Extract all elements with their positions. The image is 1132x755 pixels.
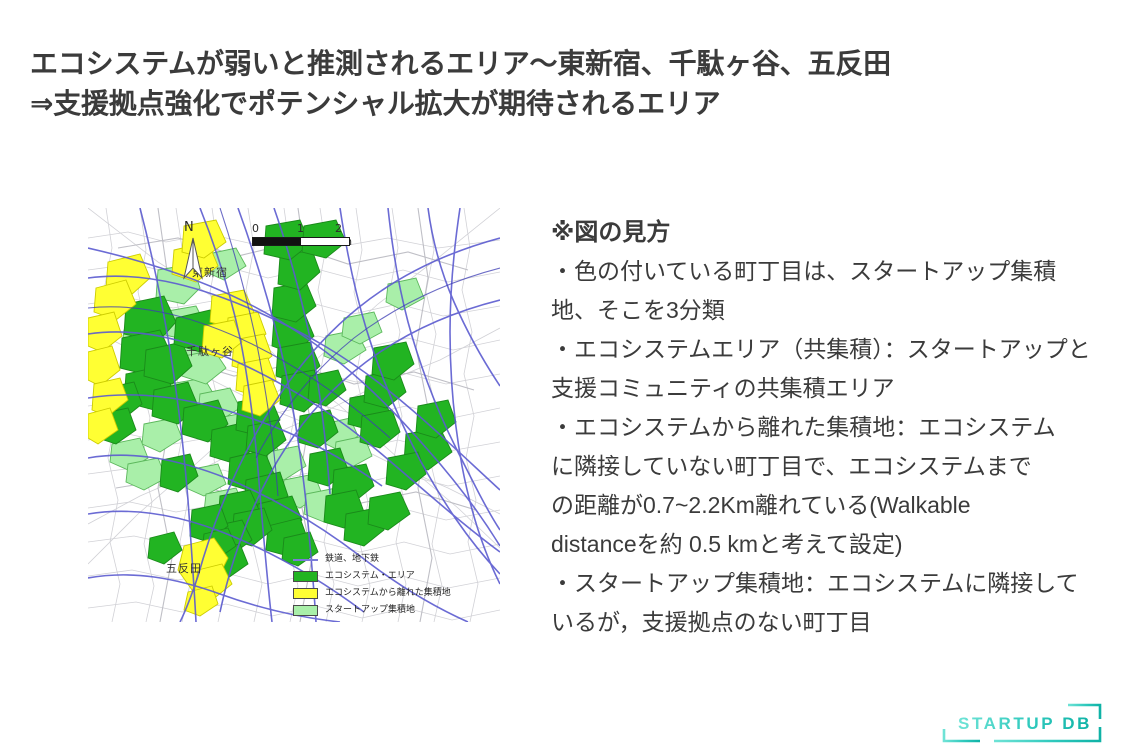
scale-tick-labels: 0 1 2 km xyxy=(238,222,358,237)
legend-swatch-detached-cluster xyxy=(293,588,318,599)
map-figure: 東新宿 千駄ヶ谷 五反田 0 1 2 km N 鉄道、地下鉄 エコシステム・エリ… xyxy=(88,208,500,622)
map-label-sendagaya: 千駄ヶ谷 xyxy=(186,343,234,359)
north-arrow-icon xyxy=(180,236,206,280)
notes-heading: ※図の見方 xyxy=(551,213,1096,252)
legend-label-railway: 鉄道、地下鉄 xyxy=(325,554,379,565)
note-line-1: ・色の付いている町丁目は、スタートアップ集積 xyxy=(551,252,1096,291)
title-line-2: ⇒支援拠点強化でポテンシャル拡大が期待されるエリア xyxy=(30,84,1090,124)
map-legend: 鉄道、地下鉄 エコシステム・エリア エコシステムから離れた集積地 スタートアップ… xyxy=(293,552,451,620)
legend-swatch-railway-line-icon xyxy=(293,554,318,565)
legend-swatch-ecosystem-area xyxy=(293,571,318,582)
map-label-gotanda: 五反田 xyxy=(166,560,202,576)
startup-db-logo: STARTUP DB xyxy=(936,703,1108,743)
note-line-10: いるが，支援拠点のない町丁目 xyxy=(551,603,1096,642)
note-line-3: ・エコシステムエリア（共集積）：スタートアップと xyxy=(551,330,1096,369)
slide-title: エコシステムが弱いと推測されるエリア〜東新宿、千駄ヶ谷、五反田 ⇒支援拠点強化で… xyxy=(30,44,1090,124)
title-line-1: エコシステムが弱いと推測されるエリア〜東新宿、千駄ヶ谷、五反田 xyxy=(30,44,1090,84)
note-line-6: に隣接していない町丁目で、エコシステムまで xyxy=(551,447,1096,486)
note-line-8: distanceを約 0.5 kmと考えて設定) xyxy=(551,525,1096,564)
legend-label-ecosystem-area: エコシステム・エリア xyxy=(325,571,415,582)
legend-item-detached-cluster: エコシステムから離れた集積地 xyxy=(293,586,451,601)
legend-item-startup-cluster: スタートアップ集積地 xyxy=(293,603,451,618)
startup-db-logo-mark: STARTUP DB xyxy=(936,703,1108,743)
scale-tick-1: 1 xyxy=(297,222,304,235)
scale-tick-0: 0 xyxy=(252,222,259,235)
legend-label-startup-cluster: スタートアップ集積地 xyxy=(325,605,415,616)
scale-bar-filled xyxy=(253,238,301,245)
legend-item-railway: 鉄道、地下鉄 xyxy=(293,552,451,567)
legend-swatch-startup-cluster xyxy=(293,605,318,616)
note-line-4: 支援コミュニティの共集積エリア xyxy=(551,369,1096,408)
notes-block: ※図の見方 ・色の付いている町丁目は、スタートアップ集積 地、そこを3分類 ・エ… xyxy=(551,213,1096,642)
north-arrow-letter: N xyxy=(184,220,194,235)
map-scale-bar: 0 1 2 km xyxy=(238,222,358,246)
legend-item-ecosystem-area: エコシステム・エリア xyxy=(293,569,451,584)
note-line-9: ・スタートアップ集積地：エコシステムに隣接して xyxy=(551,564,1096,603)
legend-label-detached-cluster: エコシステムから離れた集積地 xyxy=(325,588,451,599)
scale-bar-graphic xyxy=(252,237,350,246)
note-line-2: 地、そこを3分類 xyxy=(551,291,1096,330)
note-line-5: ・エコシステムから離れた集積地：エコシステム xyxy=(551,408,1096,447)
note-line-7: の距離が0.7~2.2Km離れている(Walkable xyxy=(551,486,1096,525)
startup-db-logo-text: STARTUP DB xyxy=(958,714,1092,733)
